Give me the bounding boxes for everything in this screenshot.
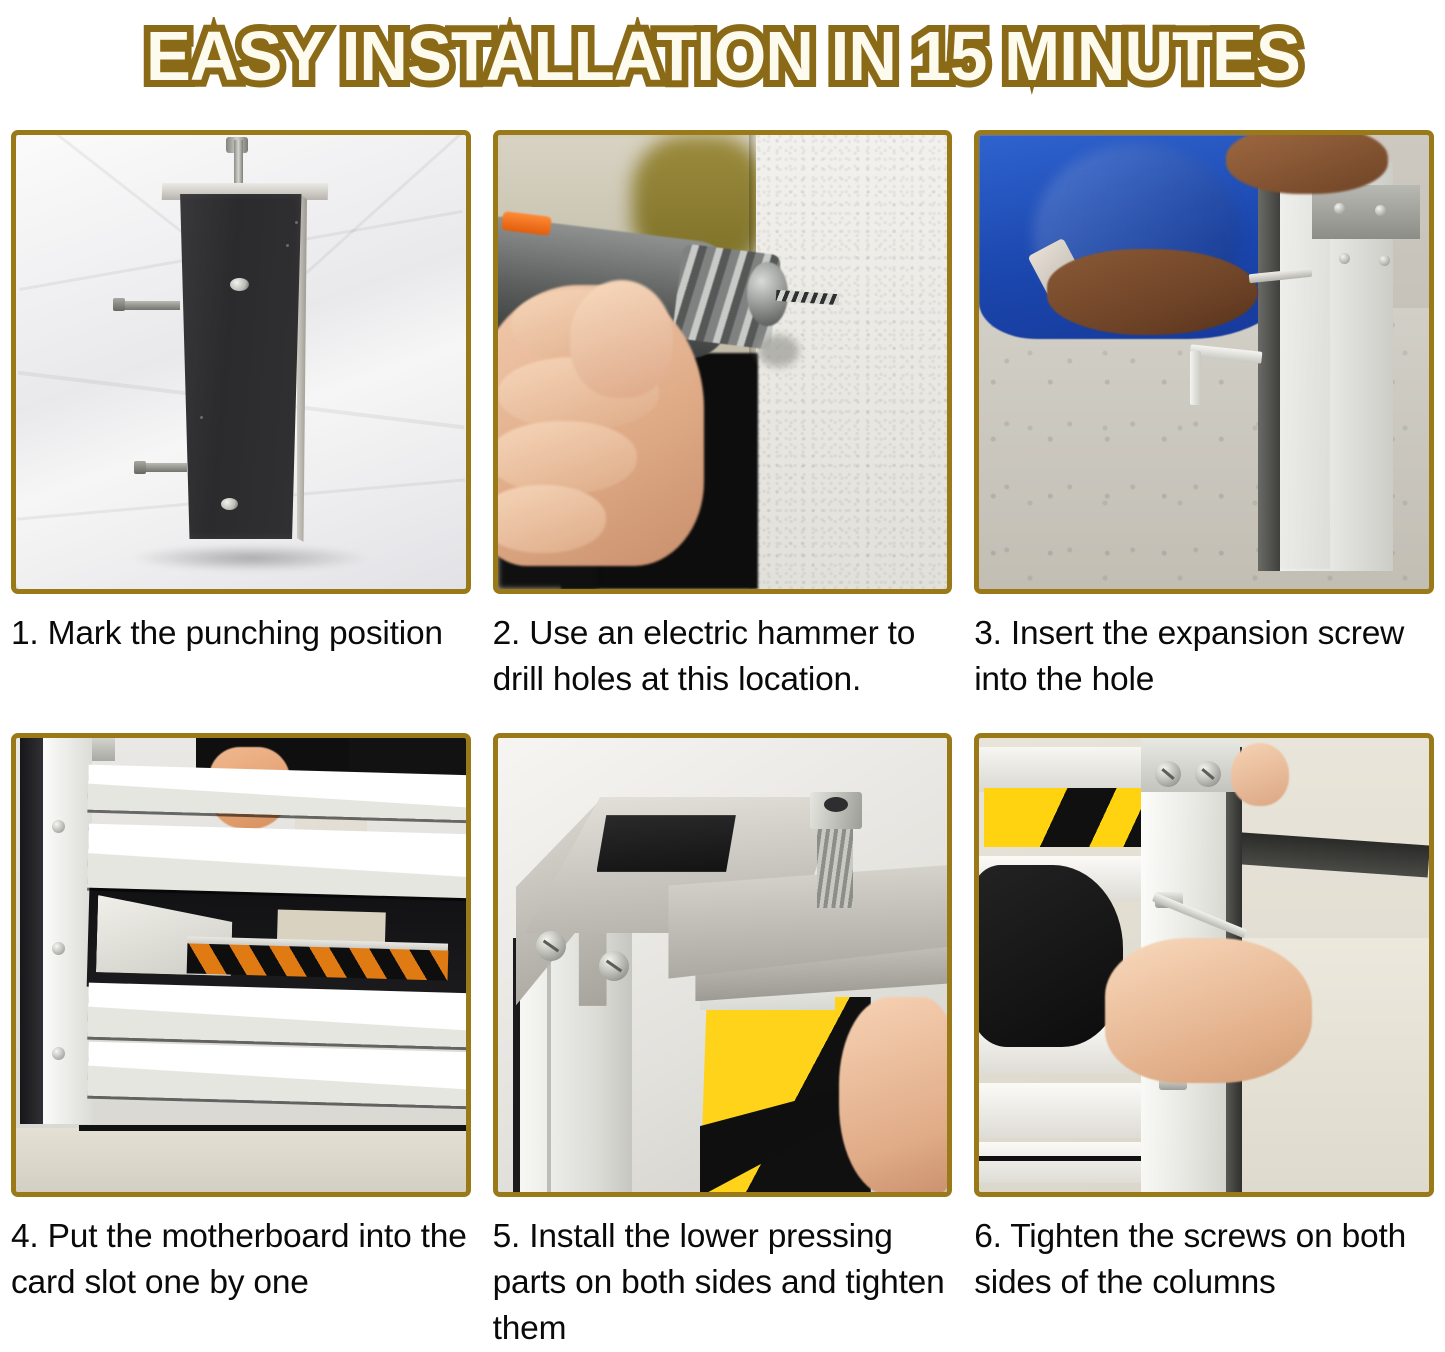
plate-screw <box>1339 253 1350 264</box>
page-title: EASY INSTALLATION IN 15 MINUTES <box>146 20 1300 92</box>
operator-arm <box>1047 249 1258 335</box>
drill-dust <box>758 335 798 367</box>
barrier-board <box>87 982 470 1047</box>
step-caption-6: 6. Tighten the screws on both sides of t… <box>974 1214 1434 1306</box>
white-column <box>43 738 92 1124</box>
step-card-2: 2. Use an electric hammer to drill holes… <box>482 130 964 703</box>
bolt-head <box>134 461 146 474</box>
column-groove <box>547 938 551 1192</box>
allen-key-short-arm <box>1190 351 1201 405</box>
mounting-hole <box>230 278 249 291</box>
step-photo-5 <box>493 733 953 1197</box>
thumb <box>1231 743 1289 807</box>
barrier-board <box>87 823 470 897</box>
step-card-1: 1. Mark the punching position <box>0 130 482 703</box>
phillips-screw <box>1195 761 1221 787</box>
board-bottom-edge <box>79 1125 466 1131</box>
bracket-slot <box>597 815 736 872</box>
thumb <box>570 280 673 398</box>
barrier-board <box>87 764 470 820</box>
barrier-board <box>979 1142 1159 1183</box>
step-photo-4 <box>11 733 471 1197</box>
phillips-screw <box>599 951 629 981</box>
step-photo-3 <box>974 130 1434 594</box>
black-sleeve <box>974 865 1123 1047</box>
step-caption-1: 1. Mark the punching position <box>11 611 471 657</box>
step-card-3: 3. Insert the expansion screw into the h… <box>963 130 1445 703</box>
step-card-4: 4. Put the motherboard into the card slo… <box>0 733 482 1352</box>
cloth-fold <box>297 130 471 282</box>
board-bottom-edge <box>979 1156 1150 1161</box>
column-dark-edge <box>1258 158 1280 571</box>
step-caption-3: 3. Insert the expansion screw into the h… <box>974 611 1434 703</box>
column-screw-hole <box>52 1047 65 1060</box>
column-screw-hole <box>52 820 65 833</box>
header-banner: EASY INSTALLATION IN 15 MINUTES <box>0 0 1445 112</box>
step-caption-2: 2. Use an electric hammer to drill holes… <box>493 611 953 703</box>
steps-row-bottom: 4. Put the motherboard into the card slo… <box>0 733 1445 1352</box>
step-photo-2 <box>493 130 953 594</box>
operator-hand <box>1226 130 1388 194</box>
post-shadow <box>133 545 367 571</box>
bolt-head <box>113 298 125 311</box>
mounting-hole <box>221 498 238 510</box>
finger <box>493 485 606 553</box>
floor <box>16 1128 466 1192</box>
surface-speck <box>286 244 289 247</box>
steps-row-top: 1. Mark the punching position <box>0 130 1445 703</box>
step-card-6: 6. Tighten the screws on both sides of t… <box>963 733 1445 1352</box>
hazard-stripe-yellow-black <box>984 788 1146 847</box>
column-dark-edge <box>20 738 42 1124</box>
barrier-board <box>979 1083 1159 1137</box>
step-caption-5: 5. Install the lower pressing parts on b… <box>493 1214 953 1352</box>
column-top-cap <box>1141 738 1240 792</box>
steps-grid: 1. Mark the punching position <box>0 112 1445 1352</box>
operator-hand <box>839 997 952 1197</box>
step-card-5: 5. Install the lower pressing parts on b… <box>482 733 964 1352</box>
finger <box>493 421 637 494</box>
phillips-screw <box>1155 761 1181 787</box>
step-photo-6 <box>974 733 1434 1197</box>
protruding-bolt <box>117 301 180 310</box>
operator-hand <box>1105 938 1312 1083</box>
barrier-board <box>87 1041 470 1106</box>
step-caption-4: 4. Put the motherboard into the card slo… <box>11 1214 471 1306</box>
barrier-board <box>979 747 1150 792</box>
installation-guide-infographic: EASY INSTALLATION IN 15 MINUTES <box>0 0 1445 1352</box>
phillips-screw <box>536 931 566 961</box>
step-photo-1 <box>11 130 471 594</box>
